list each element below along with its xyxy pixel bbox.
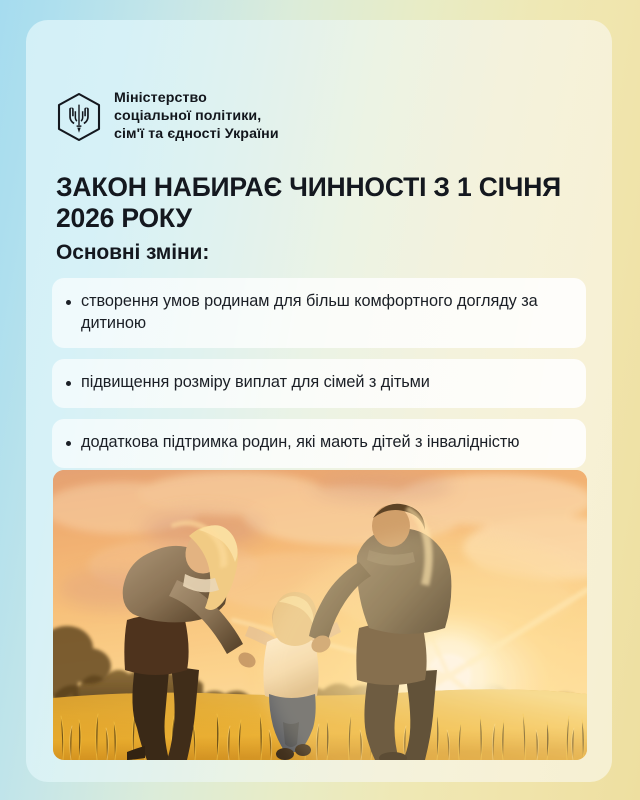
bullet-dot-icon [66,381,71,386]
list-item-label: підвищення розміру виплат для сімей з ді… [81,372,430,394]
list-item-label: додаткова підтримка родин, які мають діт… [81,432,519,454]
ministry-logo-text: Міністерство соціальної політики, сім'ї … [114,90,279,144]
content-card: Міністерство соціальної політики, сім'ї … [26,20,612,782]
changes-list: створення умов родинам для більш комфорт… [52,278,586,468]
ministry-logo: Міністерство соціальної політики, сім'ї … [56,90,279,144]
list-item: додаткова підтримка родин, які мають діт… [52,419,586,468]
list-item: підвищення розміру виплат для сімей з ді… [52,359,586,408]
page-title: ЗАКОН НАБИРАЄ ЧИННОСТІ З 1 СІЧНЯ 2026 РО… [56,172,584,234]
list-item: створення умов родинам для більш комфорт… [52,278,586,348]
family-sunset-photo [53,470,587,760]
poster-root: Міністерство соціальної політики, сім'ї … [0,0,640,800]
bullet-dot-icon [66,300,71,305]
section-subtitle: Основні зміни: [56,241,209,265]
ukrainian-trident-hexagon-emblem [56,92,102,142]
list-item-label: створення умов родинам для більш комфорт… [81,291,570,334]
bullet-dot-icon [66,441,71,446]
